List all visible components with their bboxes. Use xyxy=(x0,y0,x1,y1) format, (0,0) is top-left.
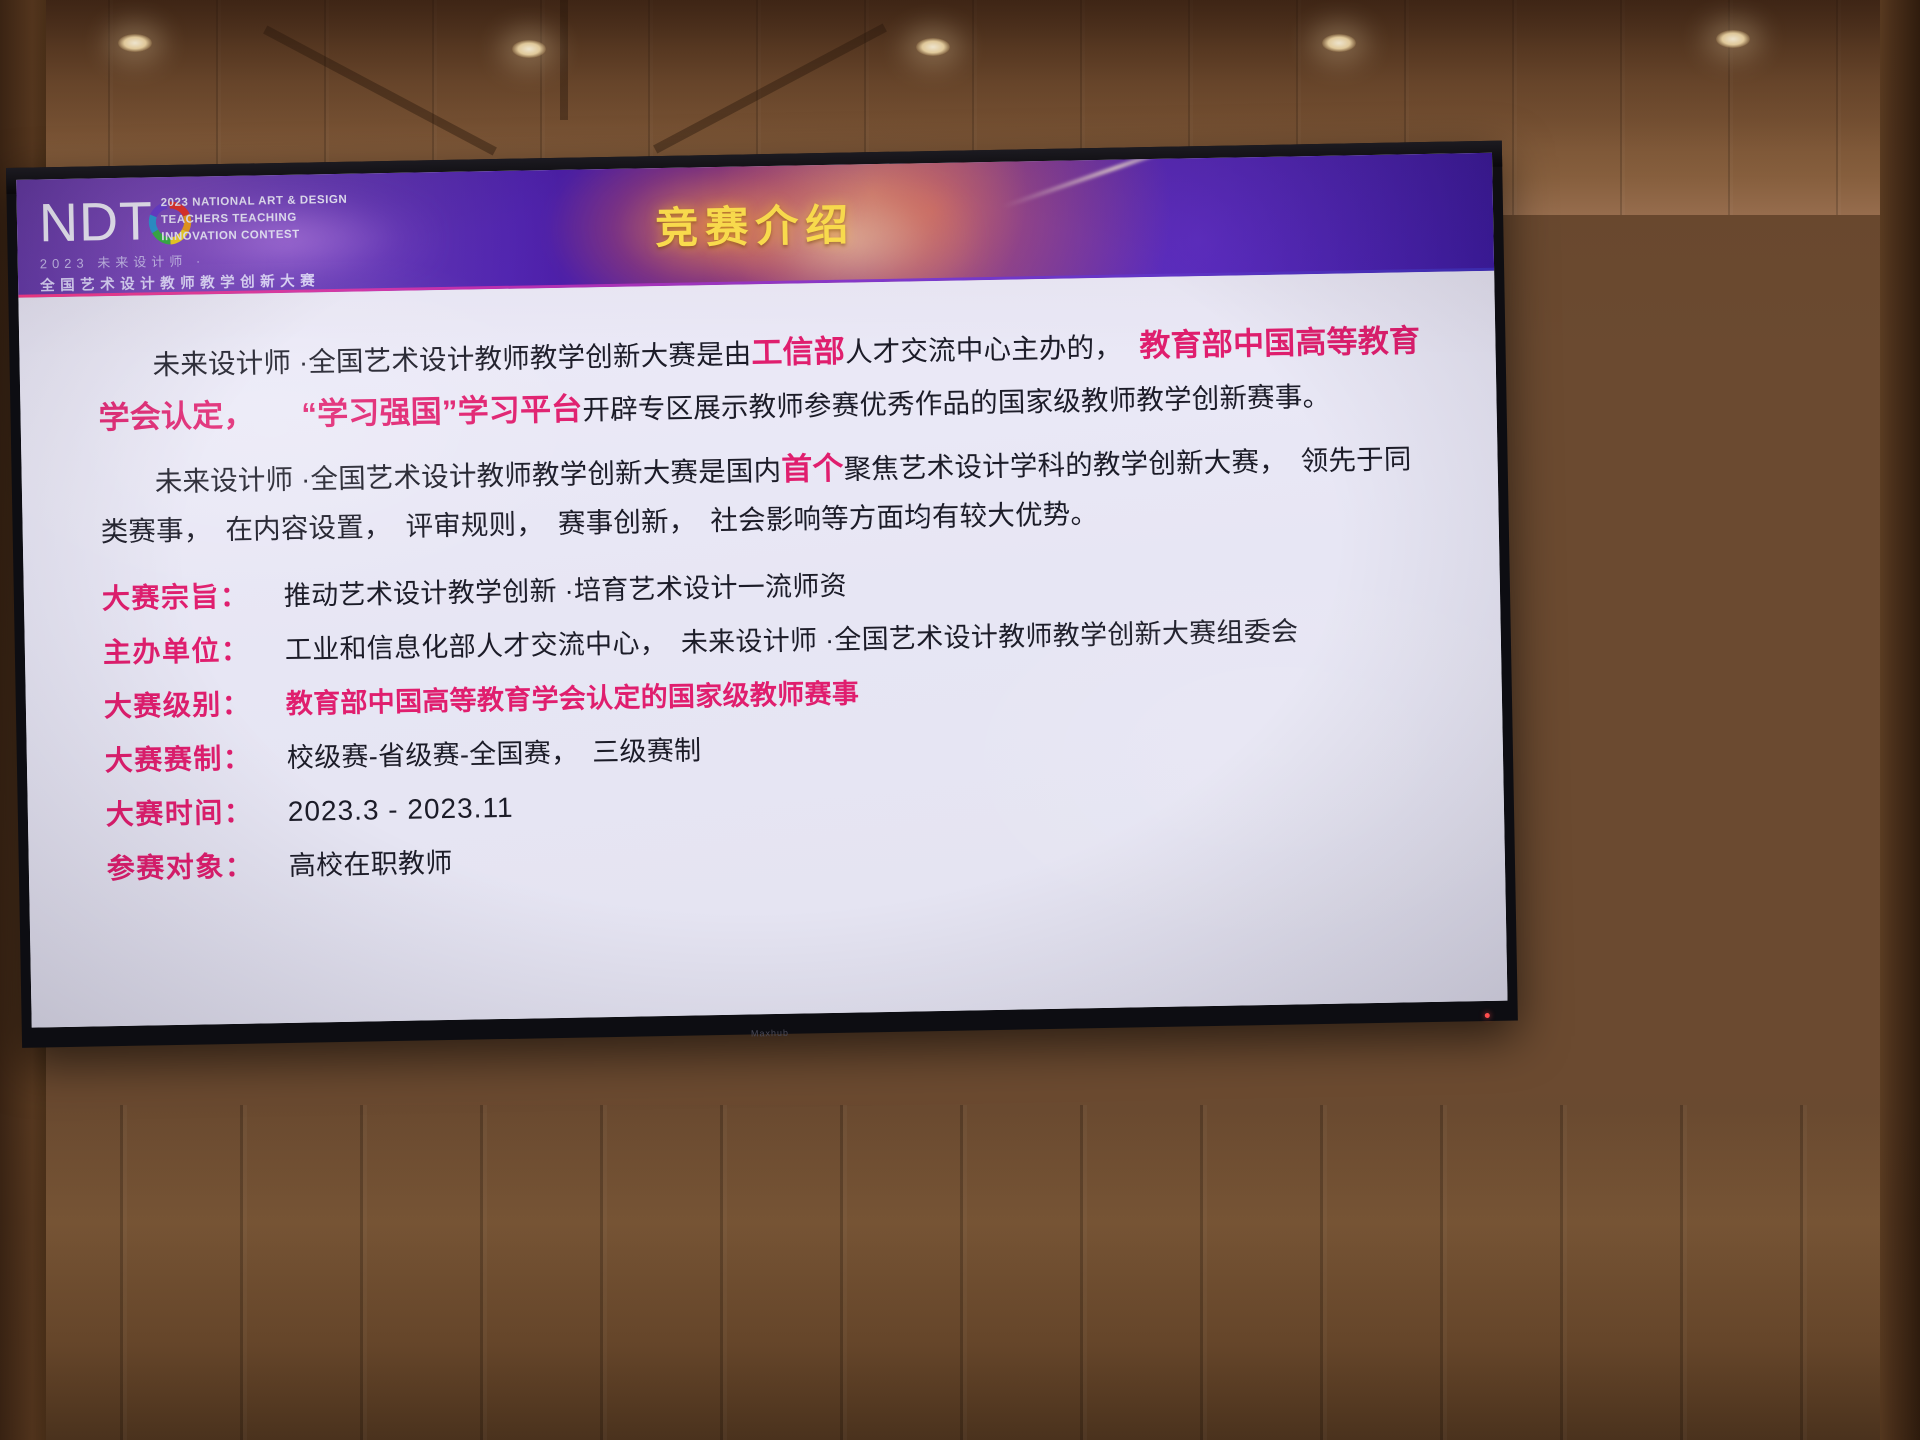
paragraph-run-emphasis: 首个 xyxy=(781,450,844,486)
detail-row: 大赛时间：2023.3 - 2023.11 xyxy=(105,769,1442,833)
photo-frame: NDT xyxy=(0,0,1920,1440)
lower-wall-wood-panel xyxy=(0,1105,1920,1440)
detail-value: 高校在职教师 xyxy=(288,841,452,883)
intro-paragraph: 未来设计师 ·全国艺术设计教师教学创新大赛是由工信部人才交流中心主办的， 教育部… xyxy=(97,314,1435,445)
ceiling-light-1 xyxy=(118,34,152,52)
ceiling-light-4 xyxy=(1322,34,1356,52)
contest-detail-list: 大赛宗旨：推动艺术设计教学创新 ·培育艺术设计一流师资主办单位：工业和信息化部人… xyxy=(102,553,1443,887)
ceiling-light-3 xyxy=(916,38,950,56)
detail-row: 主办单位：工业和信息化部人才交流中心， 未来设计师 ·全国艺术设计教师教学创新大… xyxy=(103,607,1440,671)
detail-row: 大赛赛制：校级赛-省级赛-全国赛， 三级赛制 xyxy=(104,715,1441,779)
detail-value: 推动艺术设计教学创新 ·培育艺术设计一流师资 xyxy=(283,564,847,613)
presentation-display[interactable]: NDT xyxy=(6,141,1518,1048)
paragraph-run: 人才交流中心主办的， xyxy=(845,332,1109,368)
ceiling-beam-center xyxy=(560,0,568,120)
detail-row: 大赛宗旨：推动艺术设计教学创新 ·培育艺术设计一流师资 xyxy=(102,553,1439,617)
detail-row: 参赛对象：高校在职教师 xyxy=(106,823,1443,887)
power-led-icon xyxy=(1485,1013,1490,1018)
detail-label: 大赛赛制： xyxy=(104,736,273,779)
ceiling-light-5 xyxy=(1716,30,1750,48)
slide-content-area: 未来设计师 ·全国艺术设计教师教学创新大赛是由工信部人才交流中心主办的， 教育部… xyxy=(18,271,1507,1028)
detail-label: 主办单位： xyxy=(103,628,272,671)
display-brand-label: Maxhub xyxy=(751,1028,789,1039)
detail-label: 参赛对象： xyxy=(106,844,275,887)
slide-canvas: NDT xyxy=(16,153,1507,1028)
ceiling-light-2 xyxy=(512,40,546,58)
detail-label: 大赛时间： xyxy=(105,790,274,833)
detail-value: 工业和信息化部人才交流中心， 未来设计师 ·全国艺术设计教师教学创新大赛组委会 xyxy=(284,610,1298,668)
paragraph-run-emphasis: 工信部 xyxy=(751,334,845,371)
intro-paragraphs: 未来设计师 ·全国艺术设计教师教学创新大赛是由工信部人才交流中心主办的， 教育部… xyxy=(97,314,1437,556)
detail-label: 大赛宗旨： xyxy=(102,574,271,617)
right-wall-edge xyxy=(1880,0,1920,1440)
detail-value: 校级赛-省级赛-全国赛， 三级赛制 xyxy=(286,729,701,776)
paragraph-run: 未来设计师 ·全国艺术设计教师教学创新大赛是国内 xyxy=(154,454,781,496)
intro-paragraph: 未来设计师 ·全国艺术设计教师教学创新大赛是国内首个聚焦艺术设计学科的教学创新大… xyxy=(99,430,1437,555)
detail-label: 大赛级别： xyxy=(104,682,273,725)
paragraph-run-emphasis: “学习强国”学习平台 xyxy=(239,392,583,433)
detail-value: 教育部中国高等教育学会认定的国家级教师赛事 xyxy=(285,672,859,721)
paragraph-run: 开辟专区展示教师参赛优秀作品的国家级教师教学创新赛事。 xyxy=(582,381,1330,426)
paragraph-run: 未来设计师 ·全国艺术设计教师教学创新大赛是由 xyxy=(152,338,751,380)
detail-row: 大赛级别：教育部中国高等教育学会认定的国家级教师赛事 xyxy=(104,661,1441,725)
detail-value: 2023.3 - 2023.11 xyxy=(288,792,514,828)
